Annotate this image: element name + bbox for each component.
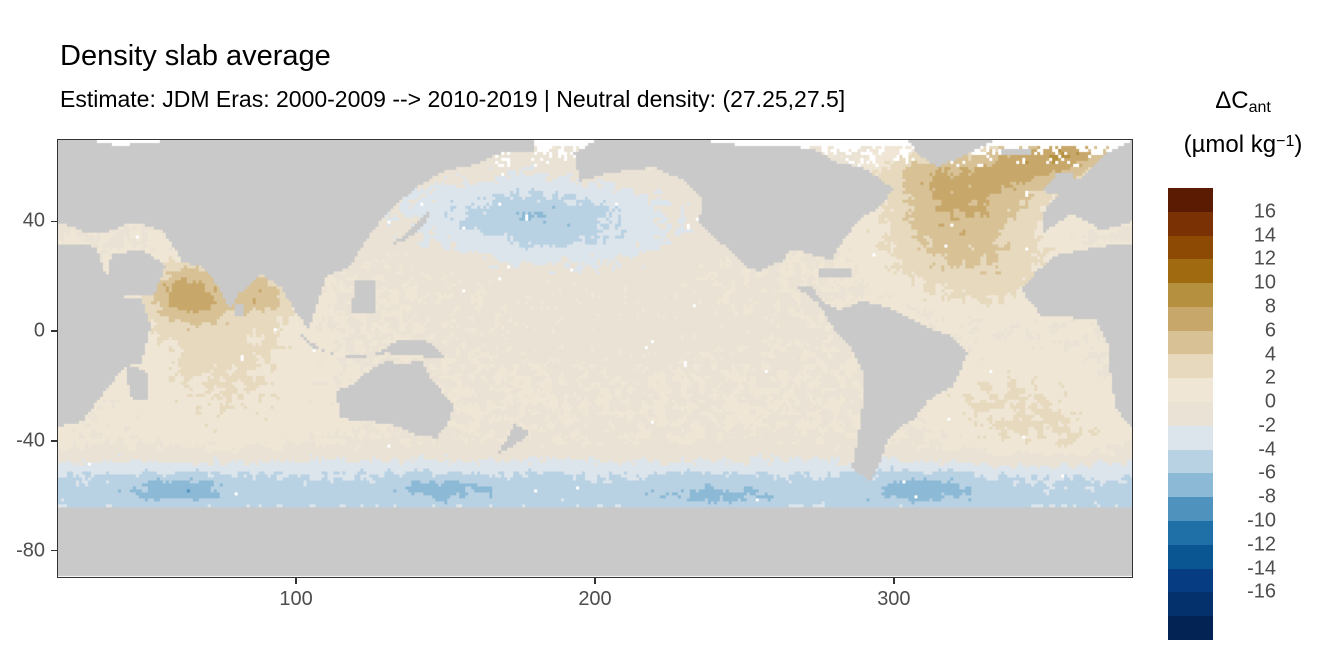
y-axis-tick-label-0: 40 <box>23 210 45 233</box>
x-axis-tick-mark <box>893 578 895 584</box>
y-axis-tick-label-1: 0 <box>34 320 45 343</box>
legend: ΔCant (µmol kg−1) 1614121086420-2-4-6-8-… <box>1148 84 1338 654</box>
colorbar-swatch-13 <box>1168 497 1213 521</box>
colorbar-swatch-8 <box>1168 378 1213 402</box>
colorbar-tick--2: -2 <box>1220 414 1276 437</box>
colorbar-swatch-16 <box>1168 569 1213 593</box>
colorbar-tick-2: 2 <box>1220 367 1276 390</box>
colorbar-swatch-11 <box>1168 450 1213 474</box>
colorbar-tick-6: 6 <box>1220 319 1276 342</box>
legend-units-close: ) <box>1294 131 1302 158</box>
colorbar-tick--6: -6 <box>1220 462 1276 485</box>
colorbar-tick-16: 16 <box>1220 200 1276 223</box>
legend-units-open: (µmol kg <box>1184 131 1277 158</box>
colorbar-swatch-12 <box>1168 473 1213 497</box>
colorbar-tick-12: 12 <box>1220 248 1276 271</box>
y-axis-tick-mark <box>51 440 57 442</box>
legend-symbol-subscript: ant <box>1249 99 1271 116</box>
colorbar-tick--14: -14 <box>1220 557 1276 580</box>
colorbar-swatch-10 <box>1168 426 1213 450</box>
colorbar-tick--12: -12 <box>1220 533 1276 556</box>
page-title: Density slab average <box>60 40 331 73</box>
colorbar-tick--4: -4 <box>1220 438 1276 461</box>
colorbar-swatch-2 <box>1168 236 1213 260</box>
x-axis-tick-label-2: 300 <box>877 588 910 611</box>
colorbar-swatch-7 <box>1168 354 1213 378</box>
y-axis-tick-label-3: -80 <box>16 539 45 562</box>
y-axis-tick-mark <box>51 550 57 552</box>
colorbar-tick-8: 8 <box>1220 295 1276 318</box>
colorbar <box>1168 188 1213 640</box>
legend-units-superscript: −1 <box>1276 133 1294 150</box>
y-axis-tick-mark <box>51 330 57 332</box>
legend-title: ΔCant (µmol kg−1) <box>1148 84 1338 162</box>
figure-root: Density slab average Estimate: JDM Eras:… <box>0 0 1344 672</box>
colorbar-swatch-0 <box>1168 188 1213 212</box>
colorbar-tick--10: -10 <box>1220 510 1276 533</box>
x-axis-tick-mark <box>594 578 596 584</box>
colorbar-swatch-15 <box>1168 545 1213 569</box>
legend-symbol: ΔC <box>1215 87 1248 114</box>
colorbar-swatch-6 <box>1168 331 1213 355</box>
map-panel <box>57 139 1133 578</box>
colorbar-tick-4: 4 <box>1220 343 1276 366</box>
colorbar-tick-labels: 1614121086420-2-4-6-8-10-12-14-16 <box>1220 188 1330 640</box>
colorbar-swatch-3 <box>1168 259 1213 283</box>
colorbar-tick-10: 10 <box>1220 272 1276 295</box>
colorbar-tick--16: -16 <box>1220 581 1276 604</box>
colorbar-swatch-4 <box>1168 283 1213 307</box>
y-axis-tick-mark <box>51 221 57 223</box>
colorbar-tick-0: 0 <box>1220 391 1276 414</box>
colorbar-tick-14: 14 <box>1220 224 1276 247</box>
x-axis-tick-mark <box>295 578 297 584</box>
map-raster <box>58 140 1132 577</box>
colorbar-swatch-1 <box>1168 212 1213 236</box>
colorbar-tick--8: -8 <box>1220 486 1276 509</box>
x-axis-tick-label-1: 200 <box>578 588 611 611</box>
colorbar-swatch-14 <box>1168 521 1213 545</box>
colorbar-swatch-5 <box>1168 307 1213 331</box>
colorbar-swatch-17 <box>1168 592 1213 616</box>
colorbar-swatch-18 <box>1168 616 1213 640</box>
colorbar-swatch-9 <box>1168 402 1213 426</box>
y-axis-tick-label-2: -40 <box>16 429 45 452</box>
x-axis-tick-label-0: 100 <box>279 588 312 611</box>
chart-subtitle: Estimate: JDM Eras: 2000-2009 --> 2010-2… <box>60 86 845 113</box>
